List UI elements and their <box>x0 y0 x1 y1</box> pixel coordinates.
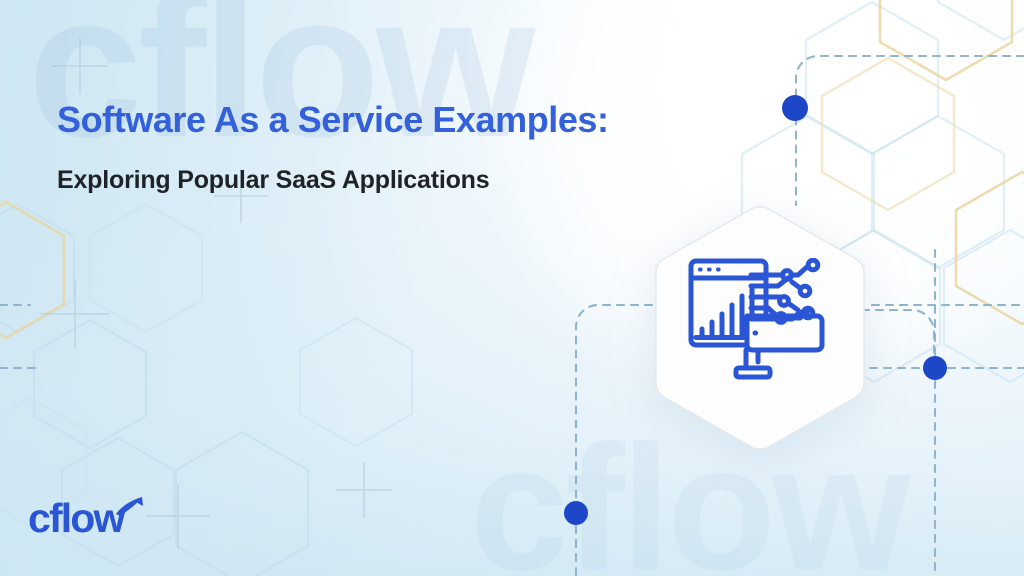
logo-swoosh-icon <box>112 494 146 520</box>
brand-logo-text: cflow <box>28 498 124 539</box>
slide-canvas: .hxf { fill:none; stroke:#BBD9EA; stroke… <box>0 0 1024 576</box>
page-title: Software As a Service Examples: <box>57 100 609 140</box>
analytics-dashboard-icon <box>688 258 834 398</box>
page-subtitle: Exploring Popular SaaS Applications <box>57 165 609 195</box>
circuit-nodes <box>751 260 818 322</box>
headline-block: Software As a Service Examples: Explorin… <box>57 100 609 195</box>
brand-logo[interactable]: cflow <box>28 498 124 539</box>
